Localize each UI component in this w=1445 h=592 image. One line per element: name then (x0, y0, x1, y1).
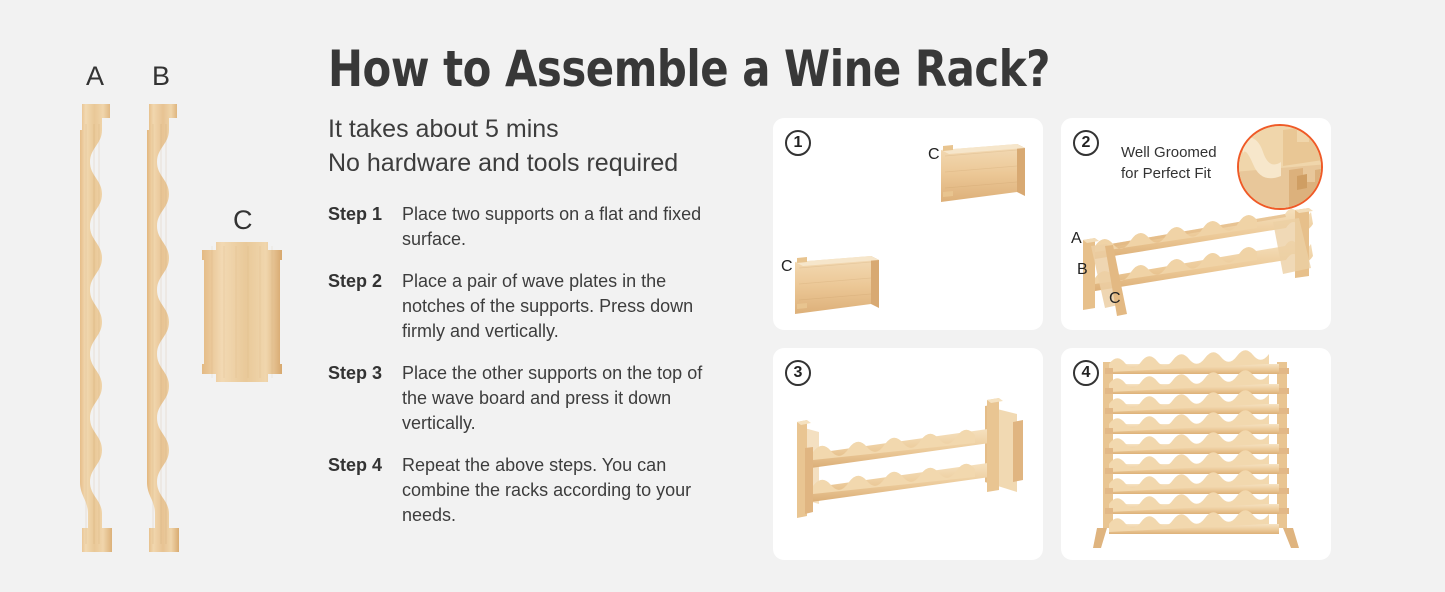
panel-1-illustration (773, 118, 1043, 330)
panel-2-caption-b: B (1077, 261, 1088, 279)
panel-card-2: 2 (1061, 118, 1331, 330)
part-a-rail (78, 104, 118, 560)
step-item: Step 3 Place the other supports on the t… (328, 361, 748, 436)
part-c-panel (202, 240, 282, 384)
step-text: Repeat the above steps. You can combine … (402, 453, 732, 528)
step-label: Step 1 (328, 202, 402, 252)
step-item: Step 2 Place a pair of wave plates in th… (328, 269, 748, 344)
step-text: Place the other supports on the top of t… (402, 361, 732, 436)
panel-card-1: 1 (773, 118, 1043, 330)
page-title: How to Assemble a Wine Rack? (328, 44, 719, 94)
step-item: Step 4 Repeat the above steps. You can c… (328, 453, 748, 528)
panel-3-illustration (773, 348, 1043, 560)
subtitle-line-2: No hardware and tools required (328, 146, 748, 180)
zoom-callout-ring (1237, 124, 1323, 210)
panel-4-illustration (1061, 348, 1331, 560)
step-label: Step 4 (328, 453, 402, 528)
step-label: Step 2 (328, 269, 402, 344)
panel-card-4: 4 (1061, 348, 1331, 560)
callout-text: Well Groomed for Perfect Fit (1121, 142, 1251, 184)
panel-card-3: 3 (773, 348, 1043, 560)
step-illustration-grid: 1 (773, 118, 1343, 560)
panel-2-caption-c: C (1109, 290, 1121, 308)
panel-2-caption-a: A (1071, 230, 1082, 248)
callout-line-2: for Perfect Fit (1121, 163, 1251, 184)
step-item: Step 1 Place two supports on a flat and … (328, 202, 748, 252)
step-text: Place a pair of wave plates in the notch… (402, 269, 732, 344)
part-label-a: A (86, 61, 105, 92)
step-label: Step 3 (328, 361, 402, 436)
parts-column: A B C (0, 0, 320, 592)
part-b-rail (145, 104, 185, 560)
part-label-b: B (152, 61, 171, 92)
subtitle: It takes about 5 mins No hardware and to… (328, 112, 748, 180)
infographic-root: A B C (0, 0, 1445, 592)
steps-list: Step 1 Place two supports on a flat and … (328, 202, 748, 528)
part-label-c: C (233, 205, 253, 236)
callout-line-1: Well Groomed (1121, 142, 1251, 163)
panel-1-caption-c-bottom: C (781, 258, 793, 276)
subtitle-line-1: It takes about 5 mins (328, 112, 748, 146)
instructions-column: How to Assemble a Wine Rack? It takes ab… (328, 44, 748, 545)
step-text: Place two supports on a flat and fixed s… (402, 202, 732, 252)
panel-1-caption-c-top: C (928, 146, 940, 164)
